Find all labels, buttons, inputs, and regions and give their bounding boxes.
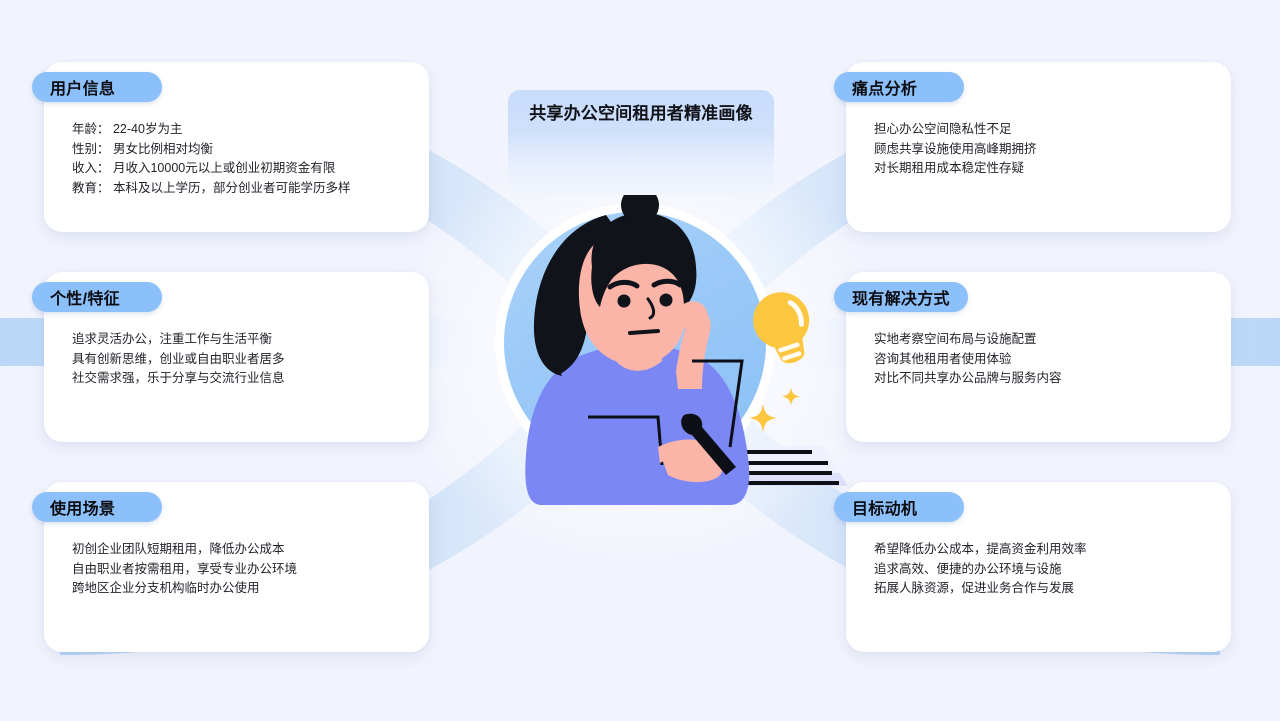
card-goals-motivation[interactable]: 目标动机 希望降低办公成本，提高资金利用效率 追求高效、便捷的办公环境与设施 拓… bbox=[846, 482, 1231, 652]
card-line: 社交需求强，乐于分享与交流行业信息 bbox=[72, 369, 411, 389]
card-body-usage-scenarios: 初创企业团队短期租用，降低办公成本 自由职业者按需租用，享受专业办公环境 跨地区… bbox=[72, 540, 411, 599]
infographic-canvas: 共享办公空间租用者精准画像 用户信息 年龄： 22-40岁为主 性别： 男女比例… bbox=[0, 0, 1280, 721]
card-line: 对比不同共享办公品牌与服务内容 bbox=[874, 369, 1213, 389]
card-line: 自由职业者按需租用，享受专业办公环境 bbox=[72, 560, 411, 580]
card-badge-existing-solutions: 现有解决方式 bbox=[834, 282, 968, 312]
card-line: 实地考察空间布局与设施配置 bbox=[874, 330, 1213, 350]
card-body-user-info: 年龄： 22-40岁为主 性别： 男女比例相对均衡 收入： 月收入10000元以… bbox=[72, 120, 411, 198]
card-line: 具有创新思维，创业或自由职业者居多 bbox=[72, 350, 411, 370]
card-body-existing-solutions: 实地考察空间布局与设施配置 咨询其他租用者使用体验 对比不同共享办公品牌与服务内… bbox=[874, 330, 1213, 389]
card-line: 希望降低办公成本，提高资金利用效率 bbox=[874, 540, 1213, 560]
card-badge-label: 个性/特征 bbox=[50, 285, 120, 309]
card-badge-label: 目标动机 bbox=[852, 495, 917, 519]
card-usage-scenarios[interactable]: 使用场景 初创企业团队短期租用，降低办公成本 自由职业者按需租用，享受专业办公环… bbox=[44, 482, 429, 652]
card-badge-personality-traits: 个性/特征 bbox=[32, 282, 162, 312]
card-line: 年龄： 22-40岁为主 bbox=[72, 120, 411, 140]
card-existing-solutions[interactable]: 现有解决方式 实地考察空间布局与设施配置 咨询其他租用者使用体验 对比不同共享办… bbox=[846, 272, 1231, 442]
card-badge-label: 现有解决方式 bbox=[852, 285, 950, 309]
card-body-pain-points: 担心办公空间隐私性不足 顾虑共享设施使用高峰期拥挤 对长期租用成本稳定性存疑 bbox=[874, 120, 1213, 179]
idea-decorations bbox=[735, 278, 835, 438]
card-pain-points[interactable]: 痛点分析 担心办公空间隐私性不足 顾虑共享设施使用高峰期拥挤 对长期租用成本稳定… bbox=[846, 62, 1231, 232]
card-line: 对长期租用成本稳定性存疑 bbox=[874, 159, 1213, 179]
card-line: 追求高效、便捷的办公环境与设施 bbox=[874, 560, 1213, 580]
card-badge-label: 用户信息 bbox=[50, 75, 115, 99]
card-body-goals-motivation: 希望降低办公成本，提高资金利用效率 追求高效、便捷的办公环境与设施 拓展人脉资源… bbox=[874, 540, 1213, 599]
card-line: 追求灵活办公，注重工作与生活平衡 bbox=[72, 330, 411, 350]
card-line: 教育： 本科及以上学历，部分创业者可能学历多样 bbox=[72, 179, 411, 199]
card-line: 顾虑共享设施使用高峰期拥挤 bbox=[874, 140, 1213, 160]
page-title: 共享办公空间租用者精准画像 bbox=[529, 101, 753, 127]
card-badge-pain-points: 痛点分析 bbox=[834, 72, 964, 102]
card-badge-goals-motivation: 目标动机 bbox=[834, 492, 964, 522]
card-line: 初创企业团队短期租用，降低办公成本 bbox=[72, 540, 411, 560]
card-line: 跨地区企业分支机构临时办公使用 bbox=[72, 579, 411, 599]
card-personality-traits[interactable]: 个性/特征 追求灵活办公，注重工作与生活平衡 具有创新思维，创业或自由职业者居多… bbox=[44, 272, 429, 442]
card-line: 性别： 男女比例相对均衡 bbox=[72, 140, 411, 160]
card-line: 担心办公空间隐私性不足 bbox=[874, 120, 1213, 140]
lightbulb-icon bbox=[746, 285, 822, 371]
card-badge-usage-scenarios: 使用场景 bbox=[32, 492, 162, 522]
card-badge-label: 使用场景 bbox=[50, 495, 115, 519]
card-line: 咨询其他租用者使用体验 bbox=[874, 350, 1213, 370]
card-body-personality-traits: 追求灵活办公，注重工作与生活平衡 具有创新思维，创业或自由职业者居多 社交需求强… bbox=[72, 330, 411, 389]
sparkle-icon bbox=[749, 388, 800, 432]
card-badge-user-info: 用户信息 bbox=[32, 72, 162, 102]
center-title-card: 共享办公空间租用者精准画像 bbox=[508, 90, 774, 195]
card-line: 收入： 月收入10000元以上或创业初期资金有限 bbox=[72, 159, 411, 179]
card-line: 拓展人脉资源，促进业务合作与发展 bbox=[874, 579, 1213, 599]
card-badge-label: 痛点分析 bbox=[852, 75, 917, 99]
card-user-info[interactable]: 用户信息 年龄： 22-40岁为主 性别： 男女比例相对均衡 收入： 月收入10… bbox=[44, 62, 429, 232]
